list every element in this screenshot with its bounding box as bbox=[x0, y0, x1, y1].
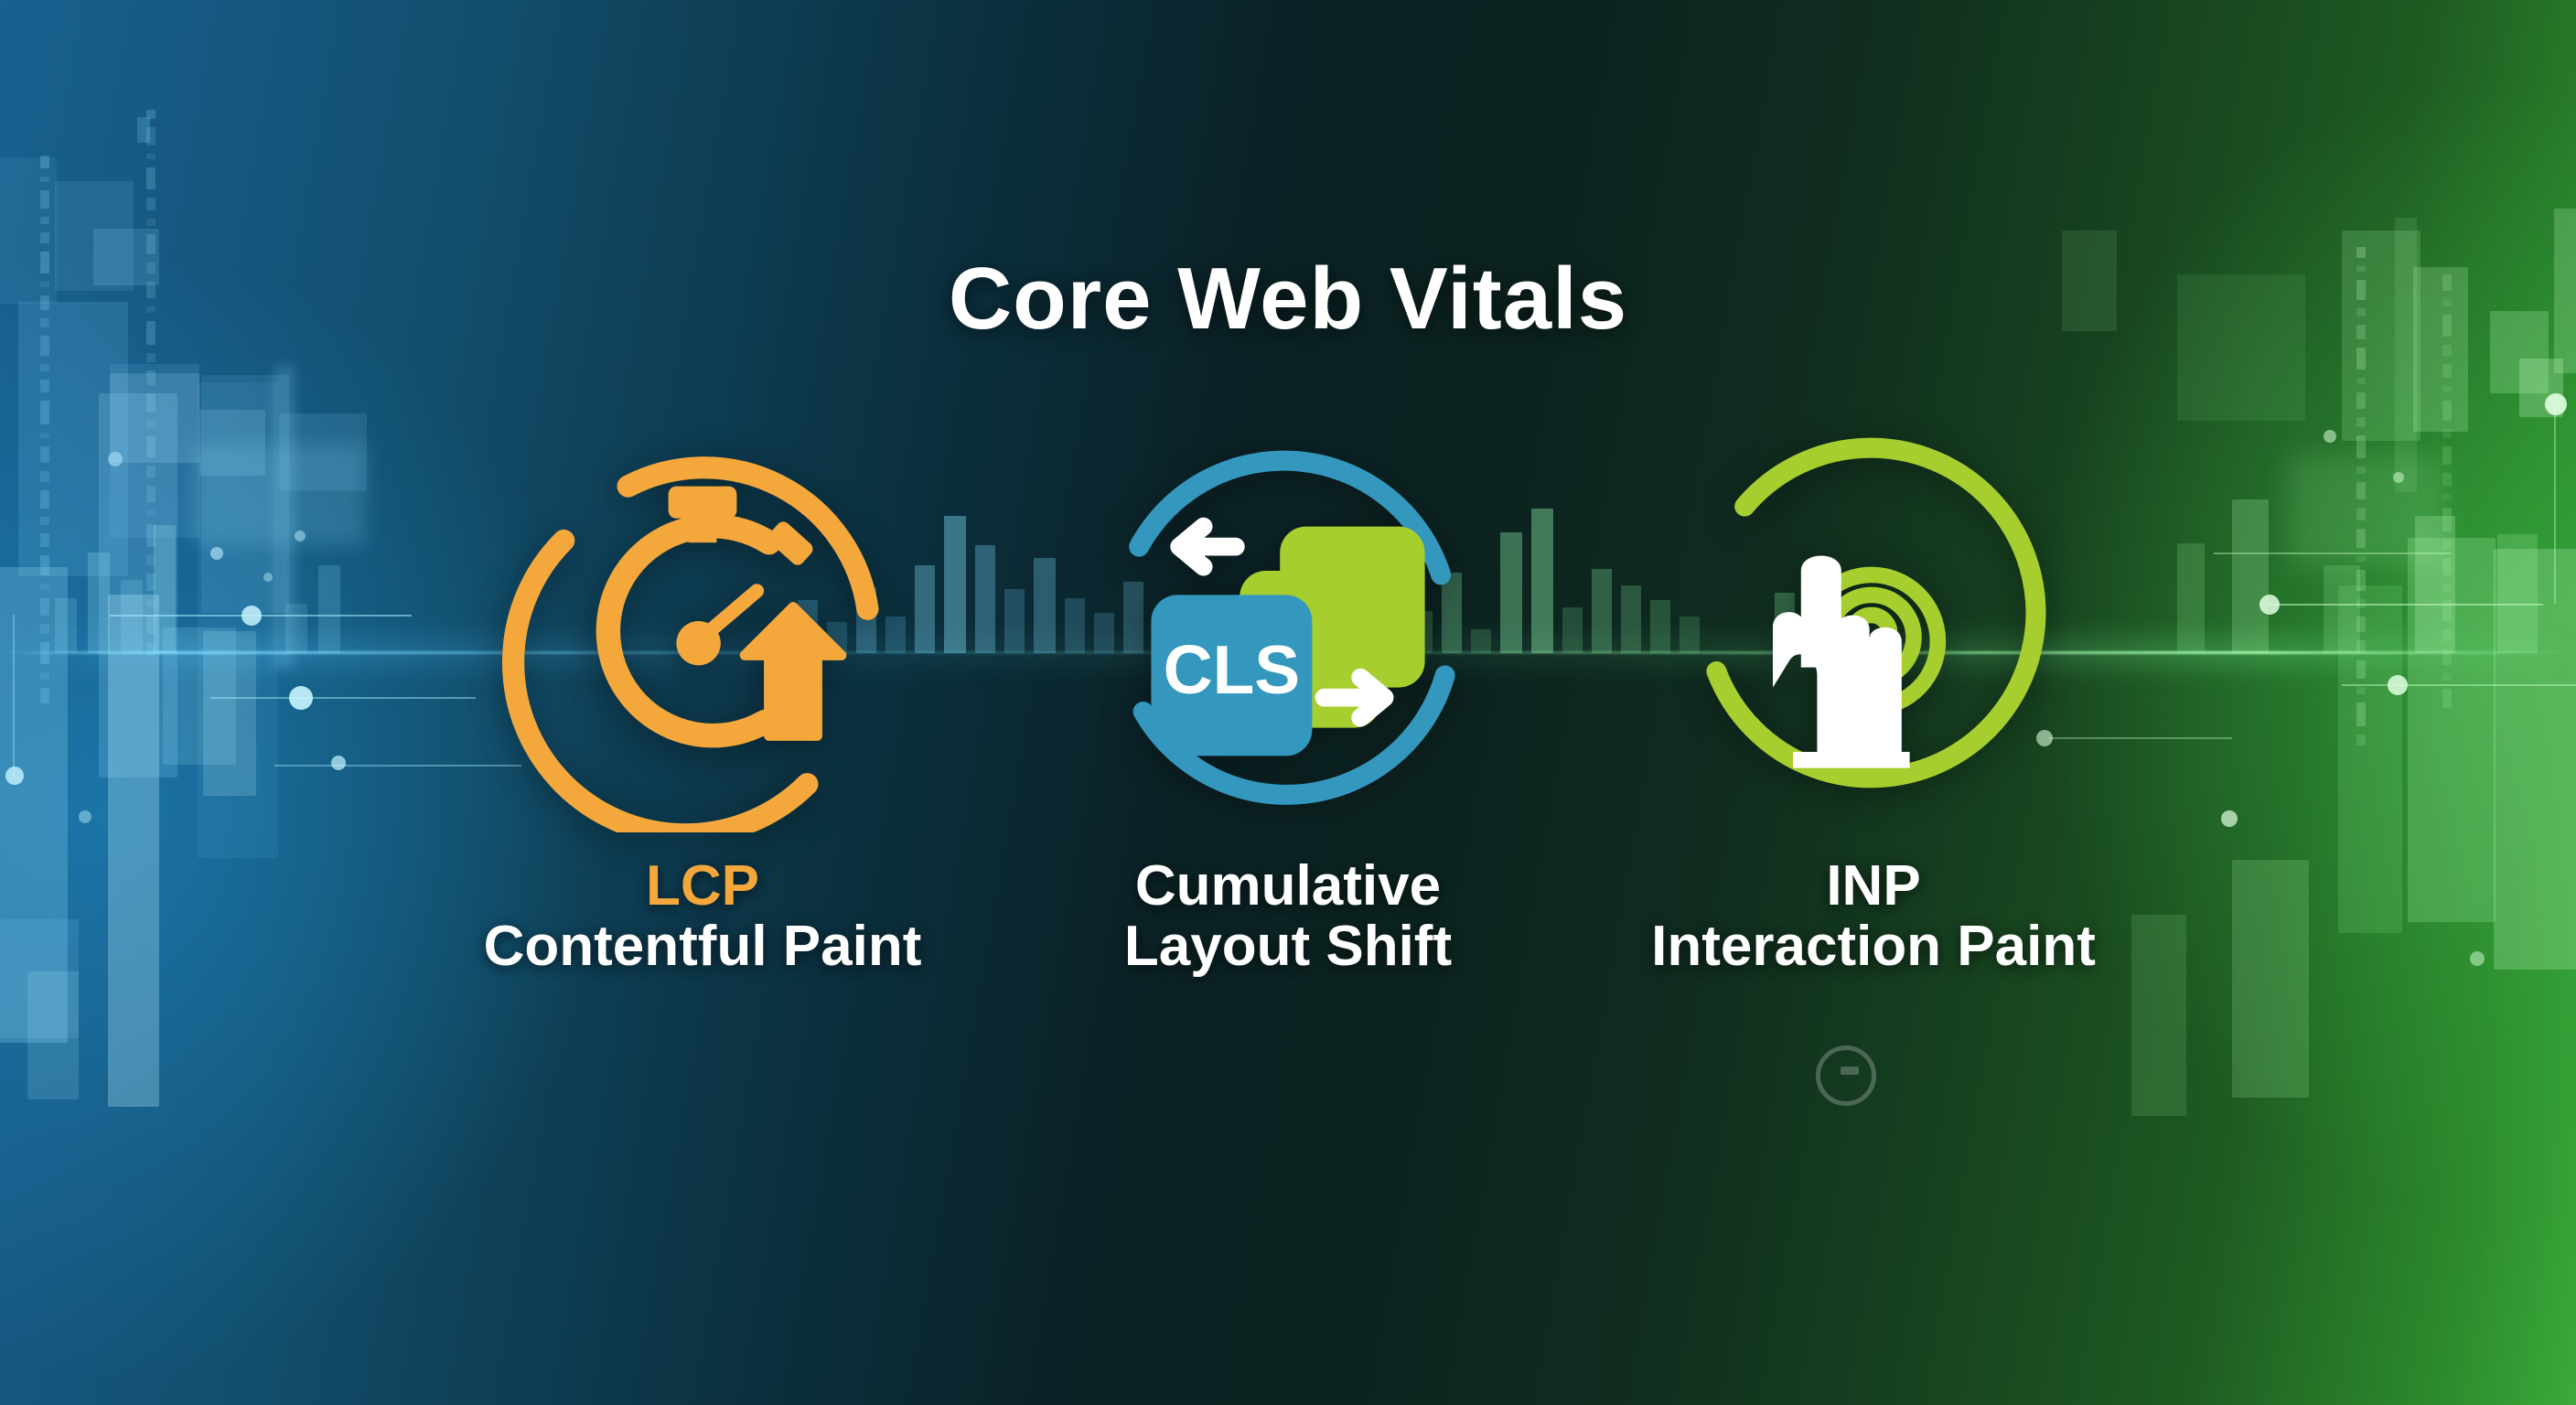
metric-description: Contentful Paint bbox=[484, 917, 922, 977]
metric-card-lcp[interactable]: LCP Contentful Paint bbox=[410, 430, 995, 976]
metric-labels: LCP Contentful Paint bbox=[484, 856, 922, 976]
tap-hand-icon bbox=[1672, 430, 2075, 832]
metric-abbrev: INP bbox=[1651, 856, 2096, 917]
metric-labels: Cumulative Layout Shift bbox=[1124, 856, 1452, 976]
infographic-canvas: Core Web Vitals bbox=[0, 0, 2576, 1405]
content-layer: Core Web Vitals bbox=[0, 0, 2576, 1405]
layout-shift-icon: CLS bbox=[1087, 430, 1489, 832]
metric-description: Interaction Paint bbox=[1651, 917, 2096, 977]
metric-labels: INP Interaction Paint bbox=[1651, 856, 2096, 976]
metric-card-inp[interactable]: INP Interaction Paint bbox=[1581, 430, 2166, 976]
stopwatch-arrow-icon bbox=[501, 430, 904, 832]
metric-abbrev: LCP bbox=[484, 856, 922, 917]
metric-description: Layout Shift bbox=[1124, 917, 1452, 977]
watermark-icon bbox=[1816, 1046, 1876, 1106]
metric-card-cls[interactable]: CLS Cumulative bbox=[995, 430, 1581, 976]
metrics-row: LCP Contentful Paint bbox=[0, 430, 2576, 976]
page-title: Core Web Vitals bbox=[0, 249, 2576, 349]
metric-abbrev: Cumulative bbox=[1124, 856, 1452, 917]
svg-text:CLS: CLS bbox=[1164, 631, 1301, 708]
